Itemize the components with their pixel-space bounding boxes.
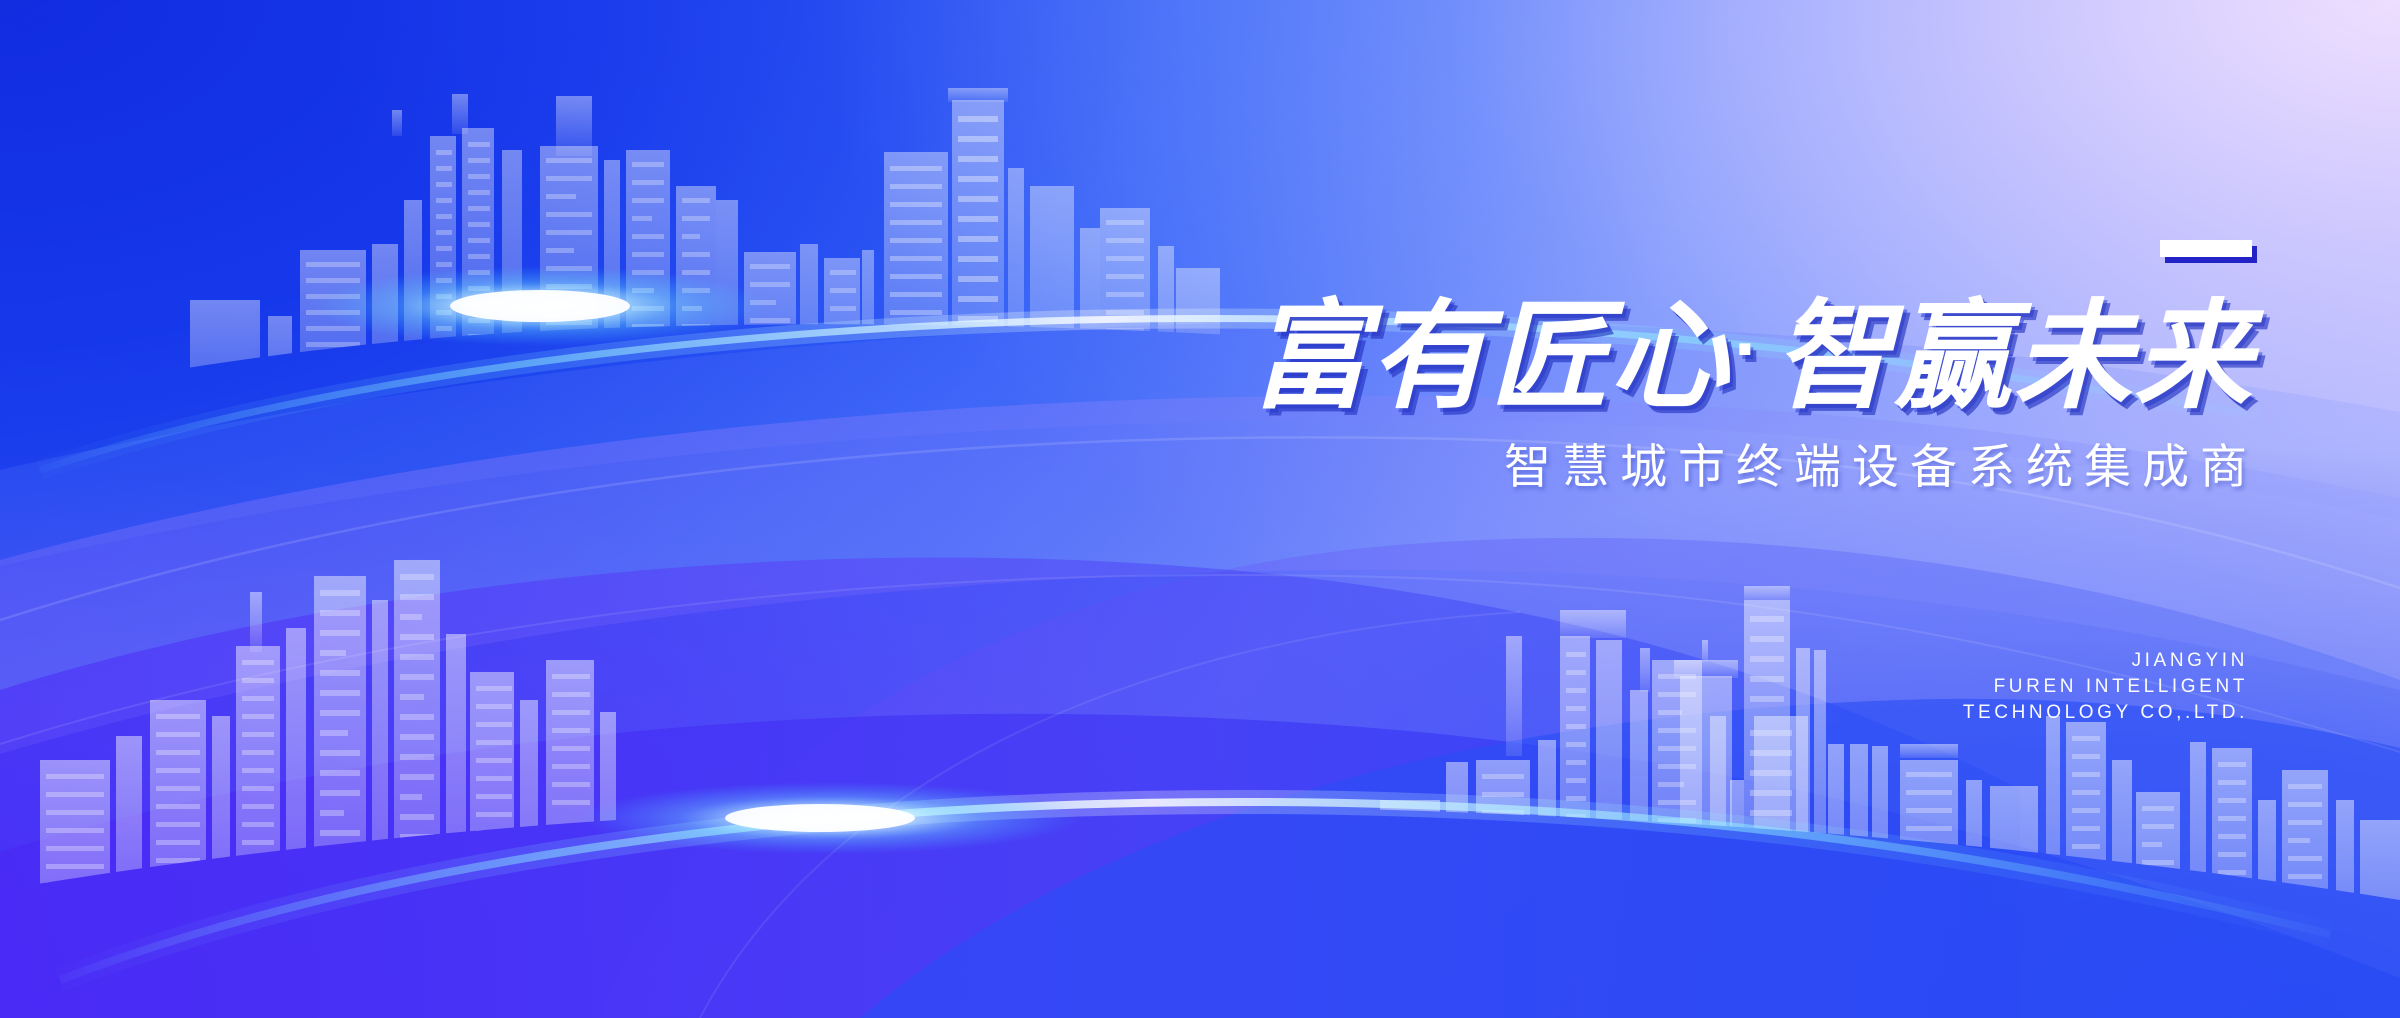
headline-right: 智赢未来 (1774, 291, 2254, 423)
company-line-1: JIANGYIN (1963, 648, 2248, 674)
headline-left: 富有匠心 (1250, 291, 1730, 423)
page-title: 富有匠心·智赢未来 (1078, 298, 2258, 416)
company-line-3: TECHNOLOGY CO,.LTD. (1963, 700, 2248, 726)
company-line-2: FUREN INTELLIGENT (1963, 674, 2248, 700)
page-subtitle: 智慧城市终端设备系统集成商 (1078, 442, 2258, 491)
scene-illustration (0, 0, 2400, 1018)
company-name-block: JIANGYIN FUREN INTELLIGENT TECHNOLOGY CO… (1963, 648, 2248, 726)
accent-rule-icon (2160, 240, 2252, 257)
headline-block: 富有匠心·智赢未来 智慧城市终端设备系统集成商 (1078, 240, 2258, 491)
headline-separator-dot: · (1730, 304, 1774, 392)
banner-canvas: 富有匠心·智赢未来 智慧城市终端设备系统集成商 JIANGYIN FUREN I… (0, 0, 2400, 1018)
